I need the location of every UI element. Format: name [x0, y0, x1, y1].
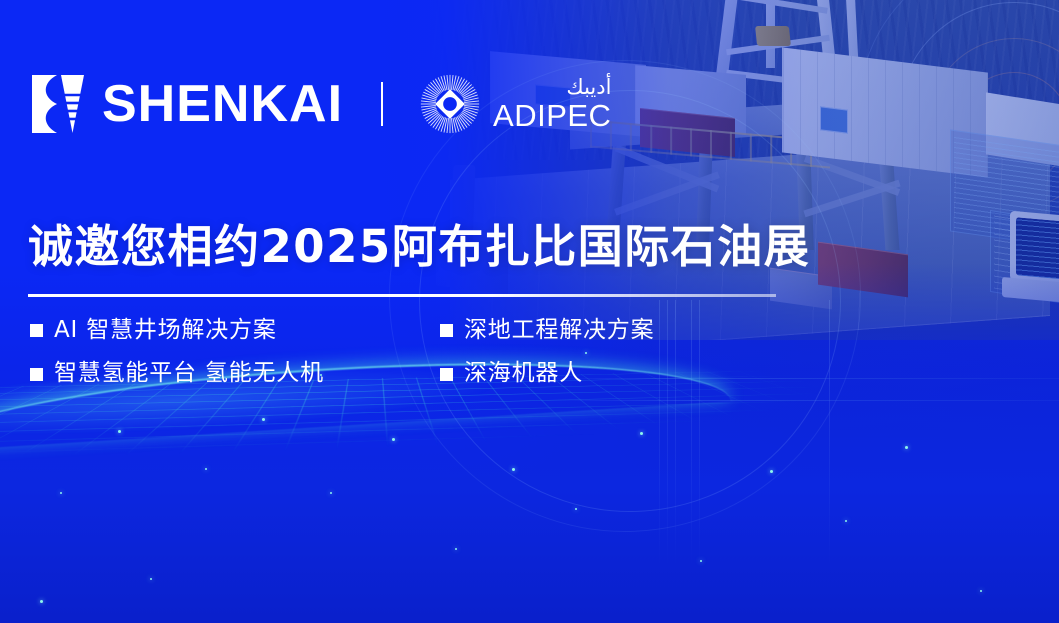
adipec-wordmark: أديبك ADIPEC [493, 77, 611, 131]
feature-item: 智慧氢能平台 氢能无人机 [30, 357, 440, 390]
feature-list: AI 智慧井场解决方案 深地工程解决方案 智慧氢能平台 氢能无人机 深海机器人 [30, 314, 790, 401]
page-title: 诚邀您相约2025阿布扎比国际石油展 [28, 222, 810, 272]
logo-divider [381, 82, 383, 126]
shenkai-logo-mark [30, 73, 86, 135]
square-bullet-icon [440, 368, 453, 381]
adipec-latin-text: ADIPEC [493, 100, 611, 131]
feature-row: 智慧氢能平台 氢能无人机 深海机器人 [30, 357, 790, 390]
adipec-arabic-text: أديبك [493, 77, 611, 98]
feature-label: 深海机器人 [464, 357, 583, 390]
title-divider [28, 294, 776, 297]
banner-content: SHENKAI [0, 0, 1059, 623]
feature-label: 深地工程解决方案 [464, 314, 654, 347]
feature-label: AI 智慧井场解决方案 [54, 314, 277, 347]
feature-row: AI 智慧井场解决方案 深地工程解决方案 [30, 314, 790, 347]
square-bullet-icon [30, 324, 43, 337]
logo-lockup: SHENKAI [30, 65, 611, 143]
shenkai-wordmark: SHENKAI [102, 78, 343, 130]
feature-item: 深地工程解决方案 [440, 314, 654, 347]
square-bullet-icon [30, 368, 43, 381]
adipec-logo: أديبك ADIPEC [419, 73, 611, 135]
feature-item: AI 智慧井场解决方案 [30, 314, 440, 347]
promo-banner: SHENKAI [0, 0, 1059, 623]
square-bullet-icon [440, 324, 453, 337]
adipec-sunburst-icon [419, 73, 481, 135]
feature-label: 智慧氢能平台 氢能无人机 [54, 357, 324, 390]
feature-item: 深海机器人 [440, 357, 583, 390]
